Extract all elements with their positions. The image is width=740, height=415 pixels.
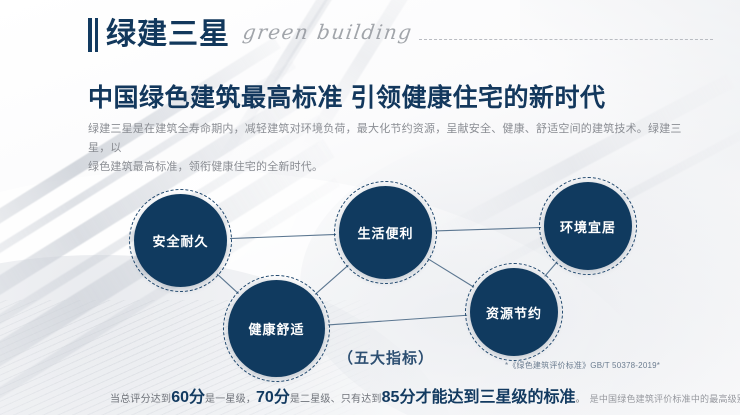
standard-footnote: *《绿色建筑评价标准》GB/T 50378-2019*	[505, 360, 660, 371]
diagram-edge-safety-convenience	[230, 234, 336, 238]
scoring-note-prefix: 当总评分达到	[110, 394, 171, 405]
diagram-node-safety[interactable]: 安全耐久	[134, 194, 227, 287]
diagram-edge-convenience-comfort	[315, 265, 348, 294]
diagram-edge-comfort-resource	[328, 315, 467, 325]
diagram-caption: （五大指标）	[338, 347, 434, 368]
scoring-note-seg3: 是二星级、只有达到	[290, 394, 382, 405]
diagram-edge-environment-resource	[545, 262, 558, 277]
score-60: 60分	[171, 389, 205, 406]
diagram-node-label: 环境宜居	[560, 217, 616, 236]
scoring-note-tail: 是中国绿色建筑评价标准中的最高级别	[590, 394, 740, 404]
diagram-node-label: 健康舒适	[248, 319, 304, 338]
diagram-node-label: 生活便利	[357, 223, 413, 242]
diagram-edge-safety-comfort	[217, 274, 239, 294]
diagram-edge-convenience-environment	[435, 228, 541, 231]
diagram-node-convenience[interactable]: 生活便利	[339, 186, 432, 279]
diagram-node-environment[interactable]: 环境宜居	[544, 182, 632, 270]
five-indicator-diagram: 安全耐久生活便利环境宜居健康舒适资源节约 （五大指标） *《绿色建筑评价标准》G…	[0, 0, 740, 415]
diagram-node-comfort[interactable]: 健康舒适	[228, 280, 325, 377]
score-85: 85分才能达到三星级的标准	[382, 389, 576, 406]
score-70: 70分	[256, 389, 290, 406]
slide-canvas: 绿建三星 green building 中国绿色建筑最高标准 引领健康住宅的新时…	[0, 0, 740, 415]
diagram-node-label: 资源节约	[486, 303, 542, 322]
diagram-node-label: 安全耐久	[152, 231, 208, 250]
scoring-note-seg4: 。	[575, 394, 585, 405]
diagram-node-resource[interactable]: 资源节约	[470, 268, 558, 356]
scoring-note: 当总评分达到60分是一星级，70分是二星级、只有达到85分才能达到三星级的标准。…	[110, 383, 740, 407]
diagram-edge-convenience-resource	[428, 259, 474, 288]
scoring-note-seg2: 是一星级，	[205, 394, 256, 405]
